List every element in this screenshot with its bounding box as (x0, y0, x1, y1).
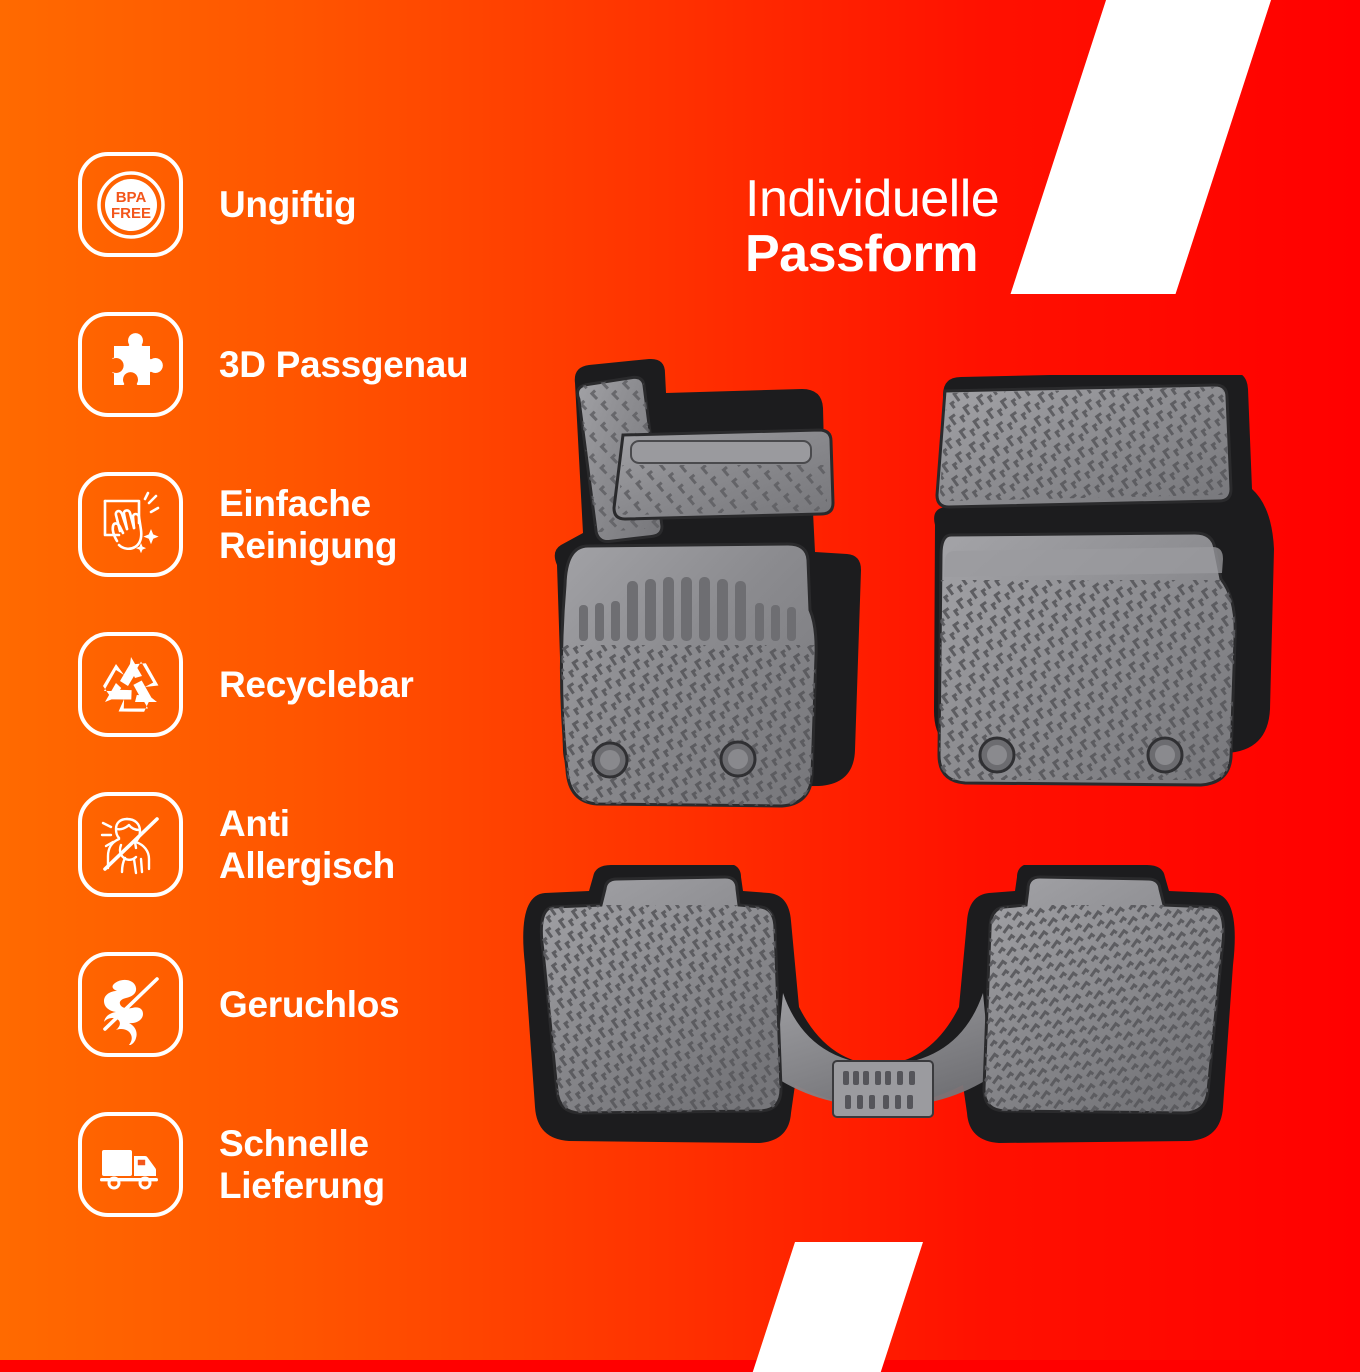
front-driver-floor-mat (505, 355, 905, 875)
rear-one-piece-floor-mat (495, 865, 1270, 1160)
product-image-group (0, 0, 1360, 1360)
front-passenger-floor-mat (915, 375, 1290, 855)
